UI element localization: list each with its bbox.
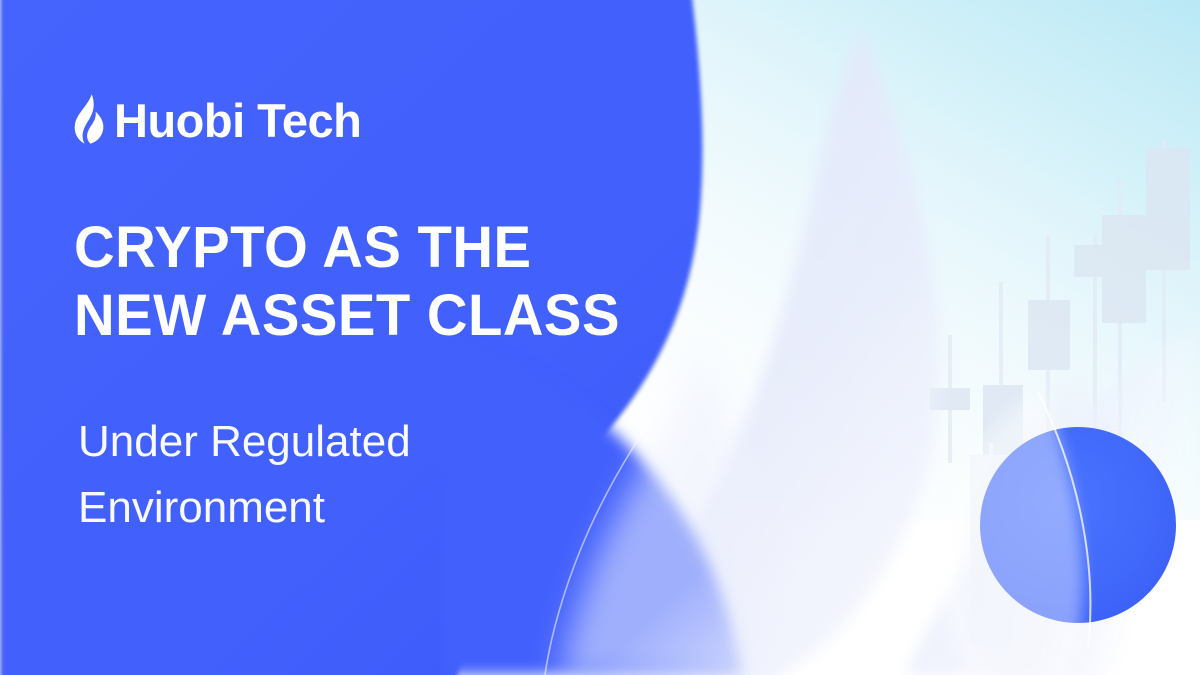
headline-title: CRYPTO AS THE NEW ASSET CLASS <box>74 214 620 350</box>
subtitle-text: Under Regulated Environment <box>78 409 411 541</box>
brand-logo: Huobi Tech <box>74 93 361 149</box>
slide-canvas: Huobi Tech CRYPTO AS THE NEW ASSET CLASS… <box>0 0 1200 675</box>
huobi-flame-icon <box>74 93 104 149</box>
brand-wordmark: Huobi Tech <box>114 97 361 144</box>
slide-content: Huobi Tech CRYPTO AS THE NEW ASSET CLASS… <box>0 0 1200 675</box>
